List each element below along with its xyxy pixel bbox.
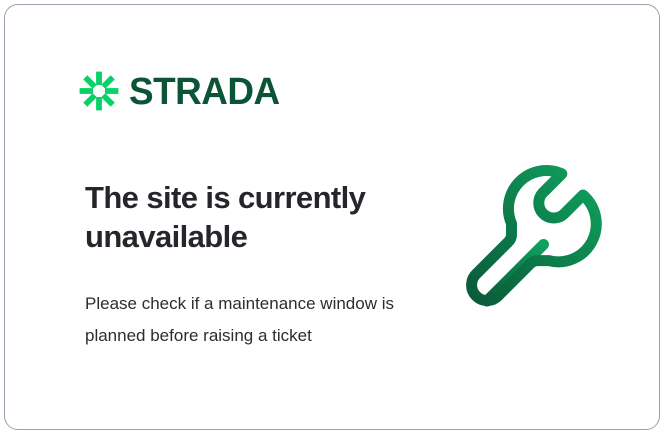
brand-wordmark: STRADA [129, 73, 280, 111]
brand-lockup: STRADA [79, 71, 284, 111]
strada-asterisk-icon [79, 71, 119, 111]
page-title: The site is currently unavailable [85, 178, 415, 256]
status-card: STRADA The site is currently unavailable… [4, 4, 660, 430]
wrench-icon [463, 160, 613, 312]
page-description: Please check if a maintenance window is … [85, 288, 395, 352]
error-page: STRADA The site is currently unavailable… [0, 0, 666, 436]
